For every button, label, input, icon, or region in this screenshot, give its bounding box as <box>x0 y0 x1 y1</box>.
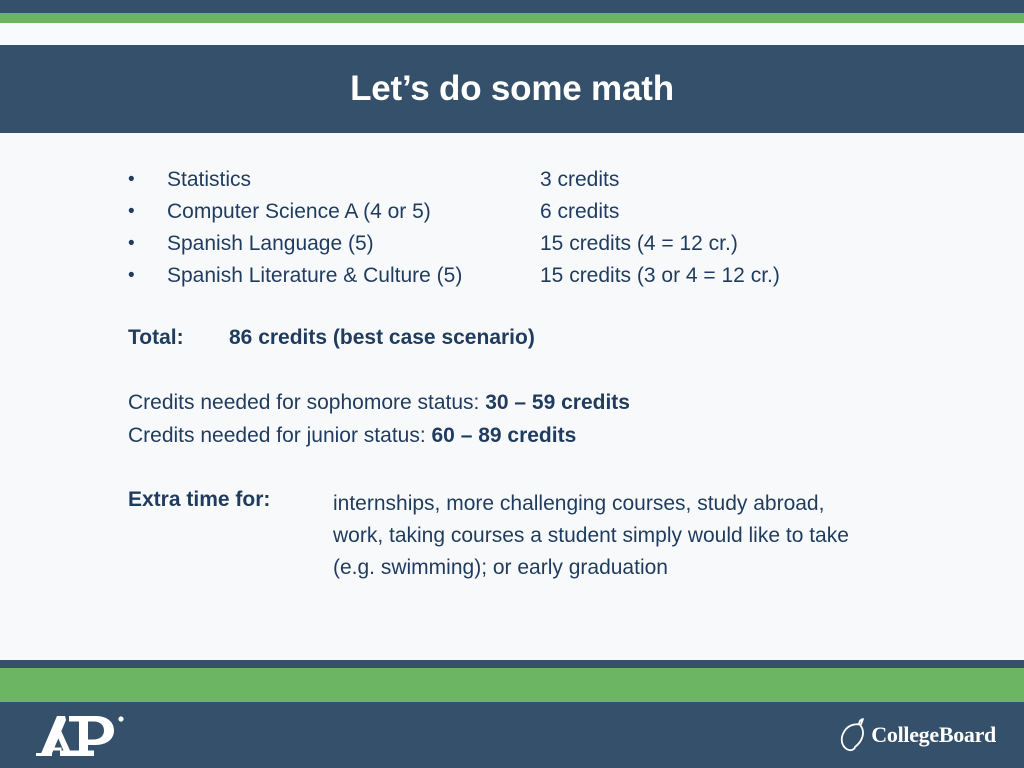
slide-footer: CollegeBoard <box>0 702 1024 768</box>
course-credits: 6 credits <box>540 196 619 228</box>
course-credits: 15 credits (4 = 12 cr.) <box>540 228 738 260</box>
top-green-band <box>0 13 1024 23</box>
slide-title: Let’s do some math <box>350 69 674 109</box>
bullet-icon: • <box>128 164 140 196</box>
ap-logo <box>36 712 132 760</box>
bullet-icon: • <box>128 196 140 228</box>
sophomore-status-label: Credits needed for sophomore status: <box>128 391 485 414</box>
slide: Let’s do some math • Statistics 3 credit… <box>0 0 1024 768</box>
acorn-icon <box>838 717 868 753</box>
sophomore-status-line: Credits needed for sophomore status: 30 … <box>128 391 630 415</box>
course-credits: 15 credits (3 or 4 = 12 cr.) <box>540 260 780 292</box>
list-item: • Computer Science A (4 or 5) 6 credits <box>128 196 918 228</box>
top-navy-band <box>0 0 1024 13</box>
total-value: 86 credits (best case scenario) <box>229 326 535 349</box>
course-name: Spanish Literature & Culture (5) <box>167 260 462 292</box>
junior-status-line: Credits needed for junior status: 60 – 8… <box>128 424 576 448</box>
course-credit-list: • Statistics 3 credits • Computer Scienc… <box>128 164 918 292</box>
list-item: • Spanish Language (5) 15 credits (4 = 1… <box>128 228 918 260</box>
junior-status-label: Credits needed for junior status: <box>128 424 432 447</box>
collegeboard-wordmark: CollegeBoard <box>871 722 996 748</box>
junior-status-value: 60 – 89 credits <box>432 424 577 447</box>
sophomore-status-value: 30 – 59 credits <box>485 391 630 414</box>
bottom-green-band <box>0 668 1024 702</box>
course-name: Spanish Language (5) <box>167 228 374 260</box>
bottom-navy-band <box>0 660 1024 668</box>
total-label: Total: <box>128 326 229 350</box>
list-item: • Statistics 3 credits <box>128 164 918 196</box>
course-name: Statistics <box>167 164 251 196</box>
top-white-gap <box>0 23 1024 45</box>
course-name: Computer Science A (4 or 5) <box>167 196 431 228</box>
bullet-icon: • <box>128 228 140 260</box>
title-bar: Let’s do some math <box>0 45 1024 133</box>
extra-time-label: Extra time for: <box>128 488 270 512</box>
course-credits: 3 credits <box>540 164 619 196</box>
bullet-icon: • <box>128 260 140 292</box>
slide-content: • Statistics 3 credits • Computer Scienc… <box>0 133 1024 660</box>
collegeboard-logo: CollegeBoard <box>838 715 996 755</box>
total-line: Total:86 credits (best case scenario) <box>128 326 535 350</box>
list-item: • Spanish Literature & Culture (5) 15 cr… <box>128 260 918 292</box>
extra-time-text: internships, more challenging courses, s… <box>333 488 853 584</box>
